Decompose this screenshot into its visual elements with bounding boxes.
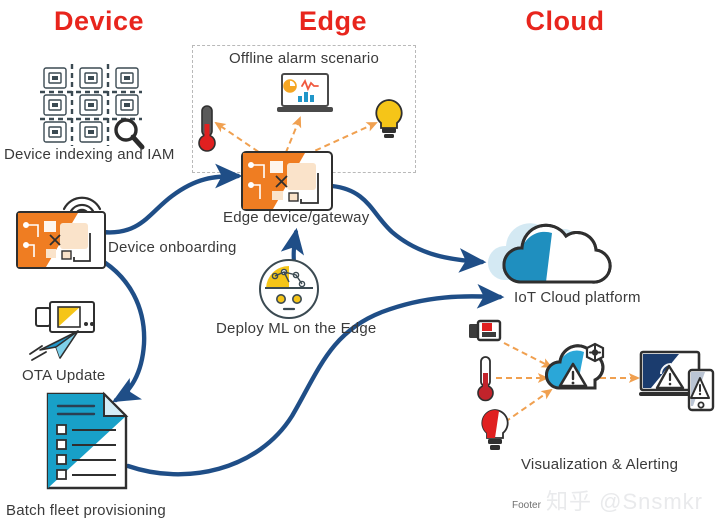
offline-alarm-title: Offline alarm scenario bbox=[192, 50, 416, 67]
checklist-document-icon bbox=[46, 392, 130, 490]
iot-cloud-label: IoT Cloud platform bbox=[514, 289, 641, 306]
laptop-phone-alert-icon bbox=[639, 350, 717, 412]
circuit-device-wifi-icon bbox=[16, 211, 106, 269]
thermometer-red-icon bbox=[476, 355, 496, 403]
diagram-canvas: Device Edge Cloud Offline alarm scenario bbox=[0, 0, 720, 532]
arrow-onboarding-to-provisioning bbox=[104, 262, 144, 400]
paper-plane-device-icon bbox=[26, 298, 108, 364]
column-header-device: Device bbox=[34, 6, 164, 37]
robot-head-ai-icon bbox=[258, 258, 320, 320]
footer-label: Footer bbox=[512, 500, 541, 511]
ota-update-label: OTA Update bbox=[22, 367, 105, 384]
edge-gateway-label: Edge device/gateway bbox=[223, 209, 369, 226]
thermometer-icon bbox=[196, 104, 218, 154]
wifi-waves-icon bbox=[58, 181, 106, 213]
laptop-dashboard-icon bbox=[276, 72, 334, 116]
deploy-ml-label: Deploy ML on the Edge bbox=[216, 320, 376, 337]
circuit-gateway-icon bbox=[241, 151, 333, 211]
cloud-icon bbox=[478, 218, 616, 290]
column-header-edge: Edge bbox=[268, 6, 398, 37]
visualization-label: Visualization & Alerting bbox=[521, 456, 678, 473]
watermark: 知乎 @Snsmkr bbox=[546, 484, 703, 516]
lightbulb-red-icon bbox=[478, 408, 512, 454]
chip-grid-search-icon bbox=[38, 62, 150, 152]
camera-icon bbox=[468, 318, 502, 344]
arrow-onboarding-to-edge bbox=[102, 176, 238, 232]
dashed-arrow-camera-to-alertcloud bbox=[504, 343, 551, 367]
gear-badge-icon bbox=[587, 344, 603, 361]
device-indexing-label: Device indexing and IAM bbox=[4, 146, 175, 163]
alert-cloud-icon bbox=[545, 340, 607, 396]
batch-provisioning-label: Batch fleet provisioning bbox=[6, 502, 166, 519]
magnifier-icon bbox=[116, 120, 142, 147]
paper-plane-icon bbox=[30, 331, 78, 360]
device-onboarding-label: Device onboarding bbox=[108, 239, 236, 256]
lightbulb-icon bbox=[372, 98, 406, 142]
column-header-cloud: Cloud bbox=[500, 6, 630, 37]
